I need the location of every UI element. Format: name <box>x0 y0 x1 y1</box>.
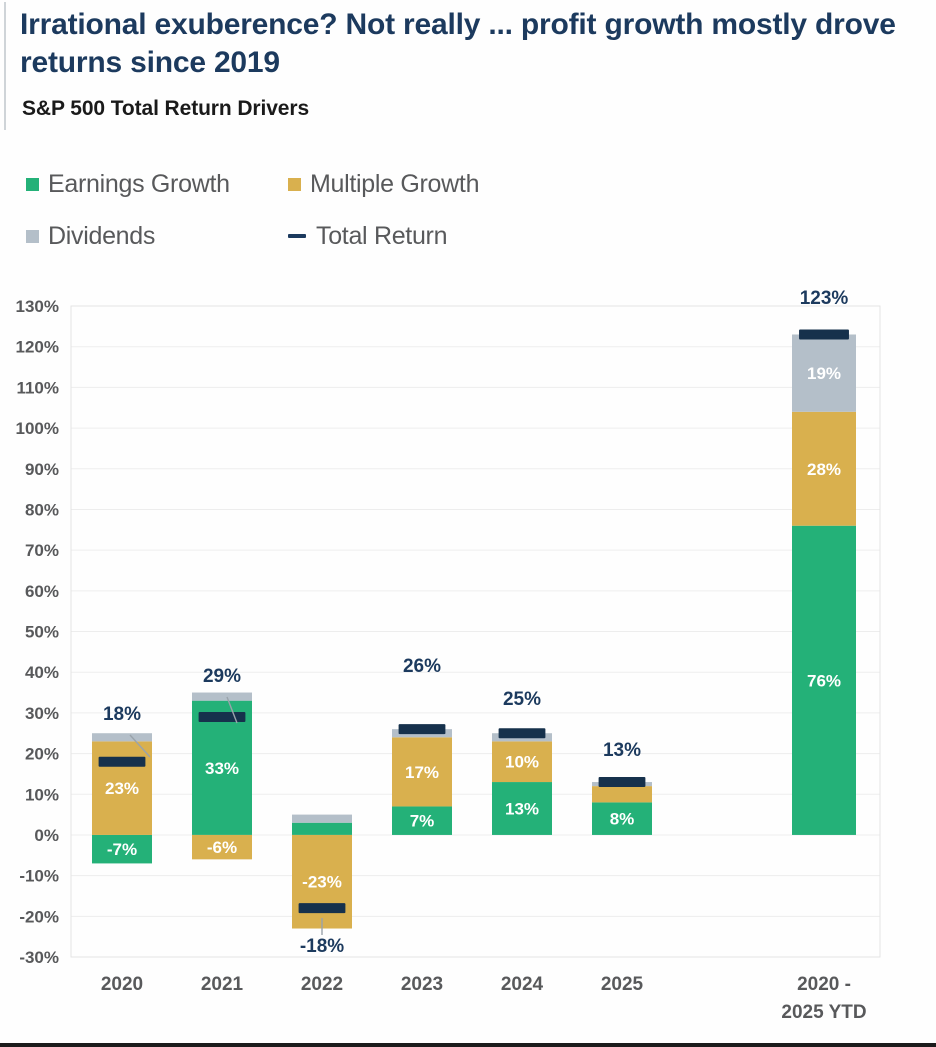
x-axis-tick-label: 2020 <box>101 974 143 995</box>
segment-value-label: 33% <box>205 759 239 778</box>
total-return-value-label: -18% <box>300 936 344 957</box>
segment-value-label: 19% <box>807 364 841 383</box>
total-return-value-label: 26% <box>403 656 441 677</box>
y-axis-tick-label: -10% <box>19 867 59 886</box>
segment-value-label: 13% <box>505 799 539 818</box>
segment-value-label: 7% <box>410 812 435 831</box>
segment-value-label: -7% <box>107 840 137 859</box>
bar-segment-dividends[interactable] <box>192 693 252 701</box>
y-axis-tick-label: 120% <box>16 338 59 357</box>
x-axis-tick-label: 2024 <box>501 974 544 995</box>
total-return-value-label: 13% <box>603 740 641 761</box>
segment-value-label: -23% <box>302 873 342 892</box>
y-axis-tick-label: 130% <box>16 297 59 316</box>
y-axis-tick-label: 50% <box>25 623 59 642</box>
bar-segment-dividends[interactable] <box>92 733 152 741</box>
x-axis-tick-label: 2023 <box>401 974 443 995</box>
total-return-marker[interactable] <box>499 728 546 738</box>
total-return-marker[interactable] <box>399 724 446 734</box>
segment-value-label: 76% <box>807 671 841 690</box>
bar-segment-multiple[interactable] <box>592 786 652 802</box>
y-axis-tick-label: 110% <box>16 378 59 397</box>
y-axis-tick-label: 40% <box>25 663 59 682</box>
y-axis-tick-label: -20% <box>19 907 59 926</box>
y-axis-tick-label: 10% <box>25 785 59 804</box>
y-axis-labels: 130%120%110%100%90%80%70%60%50%40%30%20%… <box>16 297 59 967</box>
stacked-bar-chart: 130%120%110%100%90%80%70%60%50%40%30%20%… <box>0 0 936 1047</box>
y-axis-tick-label: 0% <box>34 826 59 845</box>
segment-value-label: -6% <box>207 838 237 857</box>
x-axis-tick-label: 2020 -2025 YTD <box>781 974 866 1023</box>
segment-value-label: 8% <box>610 810 635 829</box>
chart-page: Irrational exuberence? Not really ... pr… <box>0 0 936 1047</box>
y-axis-tick-label: 90% <box>25 460 59 479</box>
y-axis-tick-label: -30% <box>19 948 59 967</box>
y-axis-tick-label: 100% <box>16 419 59 438</box>
y-axis-tick-label: 60% <box>25 582 59 601</box>
total-return-marker[interactable] <box>99 757 146 767</box>
y-axis-tick-label: 30% <box>25 704 59 723</box>
y-axis-tick-label: 80% <box>25 500 59 519</box>
y-axis-tick-label: 70% <box>25 541 59 560</box>
total-return-marker[interactable] <box>199 712 246 722</box>
total-return-marker[interactable] <box>799 329 849 339</box>
x-axis-tick-label: 2025 <box>601 974 644 995</box>
segment-value-label: 23% <box>105 779 139 798</box>
x-axis-labels: 2020202120222023202420252020 -2025 YTD <box>101 974 867 1023</box>
total-return-marker[interactable] <box>299 903 346 913</box>
total-return-value-label: 18% <box>103 704 141 725</box>
segment-value-label: 28% <box>807 460 841 479</box>
segment-value-label: 17% <box>405 763 439 782</box>
y-axis-tick-label: 20% <box>25 745 59 764</box>
x-axis-tick-label: 2021 <box>201 974 244 995</box>
bar-segment-earnings[interactable] <box>292 823 352 835</box>
total-return-value-label: 29% <box>203 666 241 687</box>
total-return-value-label: 25% <box>503 689 541 710</box>
total-return-value-label: 123% <box>800 288 849 309</box>
segment-value-label: 10% <box>505 753 539 772</box>
bar-segment-dividends[interactable] <box>292 815 352 823</box>
x-axis-tick-label: 2022 <box>301 974 343 995</box>
total-return-marker[interactable] <box>599 777 646 787</box>
